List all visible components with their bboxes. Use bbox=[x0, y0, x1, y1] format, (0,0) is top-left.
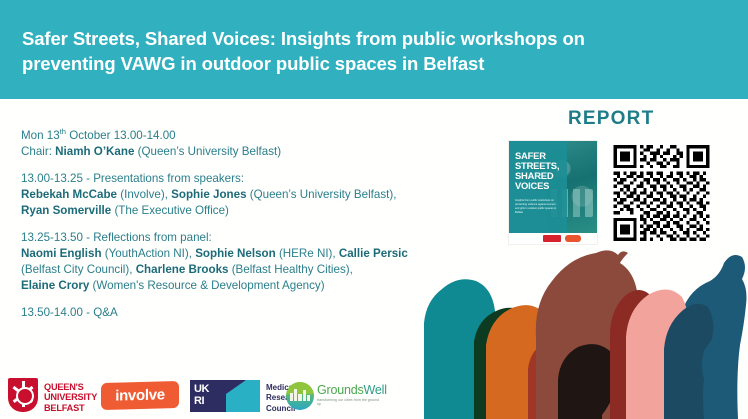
groundswell-text-b: Well bbox=[364, 383, 387, 397]
poster: Safer Streets, Shared Voices: Insights f… bbox=[0, 0, 748, 419]
queens-university-belfast-logo: QUEEN'S UNIVERSITY BELFAST bbox=[8, 378, 100, 414]
qr-code-icon bbox=[610, 145, 713, 241]
programme-text: (Queen’s University Belfast) bbox=[134, 145, 281, 158]
cover-footer-strip bbox=[509, 233, 597, 244]
programme-line: Ryan Somerville (The Executive Office) bbox=[21, 203, 441, 219]
programme-block: Mon 13th October 13.00-14.00Chair: Niamh… bbox=[21, 127, 441, 160]
programme-text: (YouthAction NI), bbox=[102, 247, 196, 260]
programme-text: (Belfast City Council), bbox=[21, 263, 136, 276]
programme-line: (Belfast City Council), Charlene Brooks … bbox=[21, 262, 441, 278]
programme-line: Naomi English (YouthAction NI), Sophie N… bbox=[21, 246, 441, 262]
ukri-box-icon: UK RI bbox=[190, 380, 226, 412]
programme-text: Mon 13 bbox=[21, 129, 60, 142]
cover-involve-logo-icon bbox=[565, 235, 581, 242]
groundswell-logo: GroundsWell transforming our cities from… bbox=[286, 380, 382, 412]
groundswell-tagline: transforming our cities from the ground … bbox=[317, 398, 382, 406]
header-band: Safer Streets, Shared Voices: Insights f… bbox=[0, 0, 748, 99]
involve-logo-text: involve bbox=[101, 381, 179, 410]
qub-line-3: BELFAST bbox=[44, 403, 97, 413]
programme-line: Mon 13th October 13.00-14.00 bbox=[21, 127, 441, 144]
page-title: Safer Streets, Shared Voices: Insights f… bbox=[22, 26, 622, 77]
programme-text: (Queen’s University Belfast), bbox=[247, 188, 397, 201]
qub-crest-icon bbox=[8, 378, 38, 412]
person-name: Rebekah McCabe bbox=[21, 188, 117, 201]
programme-text: (Involve), bbox=[117, 188, 171, 201]
ukri-line-2: RI bbox=[194, 396, 204, 407]
programme-line: Rebekah McCabe (Involve), Sophie Jones (… bbox=[21, 187, 441, 203]
report-cover-thumbnail[interactable]: SAFER STREETS, SHARED VOICES Insights fr… bbox=[509, 141, 597, 244]
programme-block: 13.25-13.50 - Reflections from panel:Nao… bbox=[21, 230, 441, 294]
groundswell-text-a: Grounds bbox=[317, 383, 364, 397]
programme-text: 13.25-13.50 - Reflections from panel: bbox=[21, 231, 212, 244]
programme-text: (The Executive Office) bbox=[111, 204, 229, 217]
person-name: Callie Persic bbox=[339, 247, 408, 260]
programme-text: Chair: bbox=[21, 145, 55, 158]
person-name: Ryan Somerville bbox=[21, 204, 111, 217]
programme-block: 13.00-13.25 - Presentations from speaker… bbox=[21, 171, 441, 219]
groundswell-logo-text: GroundsWell bbox=[317, 383, 387, 397]
person-name: Sophie Jones bbox=[171, 188, 246, 201]
report-row: SAFER STREETS, SHARED VOICES Insights fr… bbox=[509, 141, 739, 245]
programme-text: October 13.00-14.00 bbox=[66, 129, 176, 142]
person-name: Naomi English bbox=[21, 247, 102, 260]
qub-line-1: QUEEN'S bbox=[44, 382, 97, 392]
programme-text: 13.50-14.00 - Q&A bbox=[21, 306, 118, 319]
person-name: Charlene Brooks bbox=[136, 263, 229, 276]
cover-subtitle: Insights from public workshops on preven… bbox=[515, 199, 559, 216]
programme-line: Chair: Niamh O’Kane (Queen’s University … bbox=[21, 144, 441, 160]
programme-line: 13.25-13.50 - Reflections from panel: bbox=[21, 230, 441, 246]
person-name: Sophie Nelson bbox=[195, 247, 276, 260]
programme-text: (HERe NI), bbox=[276, 247, 339, 260]
programme-line: 13.00-13.25 - Presentations from speaker… bbox=[21, 171, 441, 187]
ukri-line-1: UK bbox=[194, 384, 209, 395]
groundswell-circle-icon bbox=[286, 382, 314, 410]
person-name: Elaine Crory bbox=[21, 279, 89, 292]
programme-line: 13.50-14.00 - Q&A bbox=[21, 305, 441, 321]
programme-line: Elaine Crory (Women's Resource & Develop… bbox=[21, 278, 441, 294]
footer-logo-strip: QUEEN'S UNIVERSITY BELFAST involve UK RI… bbox=[0, 374, 748, 419]
report-label: REPORT bbox=[568, 108, 654, 130]
programme-text: (Belfast Healthy Cities), bbox=[228, 263, 352, 276]
programme-schedule: Mon 13th October 13.00-14.00Chair: Niamh… bbox=[21, 127, 441, 321]
qr-code[interactable] bbox=[610, 145, 713, 241]
cover-qub-logo-icon bbox=[543, 235, 561, 242]
cover-title: SAFER STREETS, SHARED VOICES bbox=[515, 151, 581, 191]
qub-logo-text: QUEEN'S UNIVERSITY BELFAST bbox=[44, 382, 97, 413]
programme-block: 13.50-14.00 - Q&A bbox=[21, 305, 441, 321]
qub-line-2: UNIVERSITY bbox=[44, 392, 97, 402]
involve-logo: involve bbox=[101, 382, 179, 410]
programme-text: 13.00-13.25 - Presentations from speaker… bbox=[21, 172, 244, 185]
person-name: Niamh O’Kane bbox=[55, 145, 134, 158]
programme-text: (Women's Resource & Development Agency) bbox=[89, 279, 324, 292]
